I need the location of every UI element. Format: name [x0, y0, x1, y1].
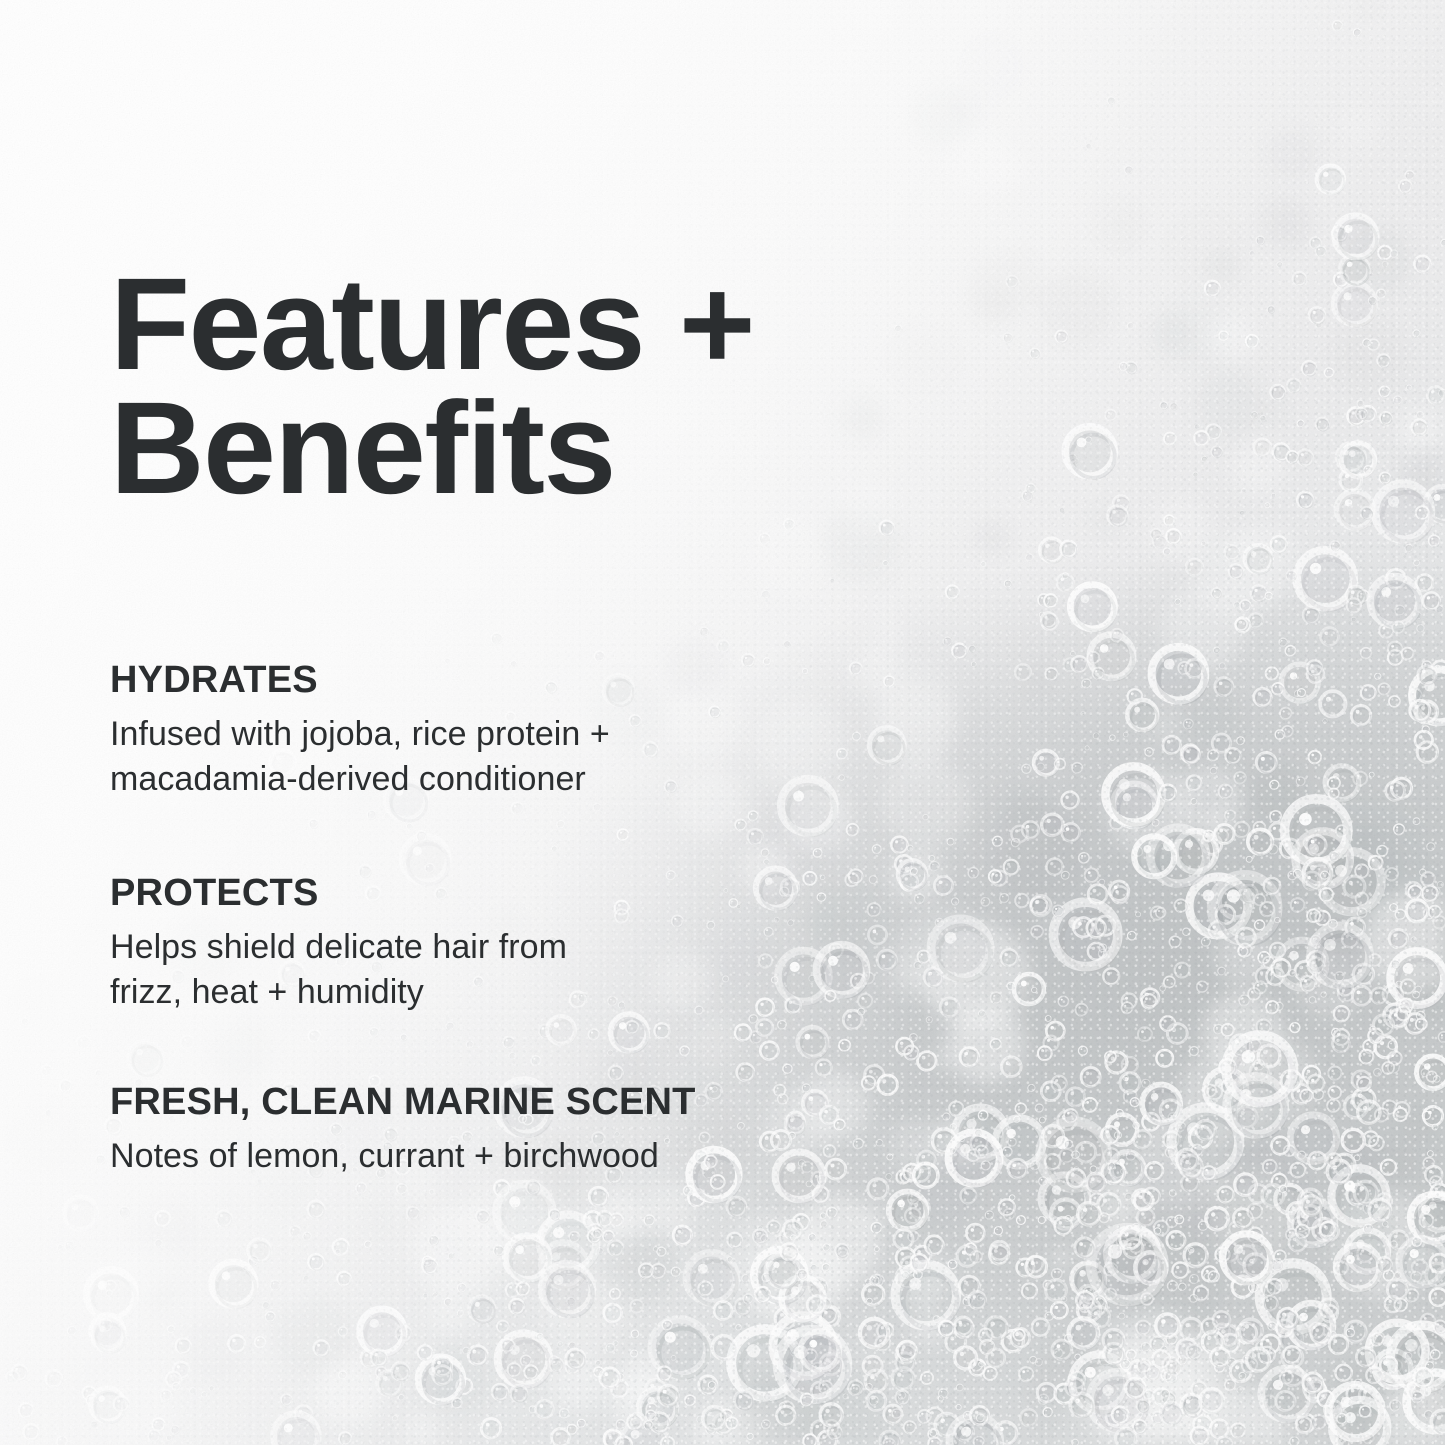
feature-block-protects: PROTECTS Helps shield delicate hair from… [110, 873, 930, 1015]
feature-title-protects: PROTECTS [110, 873, 930, 913]
feature-title-scent: FRESH, CLEAN MARINE SCENT [110, 1082, 930, 1122]
feature-body-scent: Notes of lemon, currant + birchwood [110, 1134, 930, 1179]
feature-block-hydrates: HYDRATES Infused with jojoba, rice prote… [110, 660, 930, 802]
feature-body-hydrates: Infused with jojoba, rice protein + maca… [110, 712, 930, 802]
feature-title-hydrates: HYDRATES [110, 660, 930, 700]
content-column: Features + Benefits HYDRATES Infused wit… [110, 0, 950, 1445]
feature-body-protects: Helps shield delicate hair from frizz, h… [110, 925, 930, 1015]
page-title: Features + Benefits [110, 262, 754, 510]
product-feature-panel: Features + Benefits HYDRATES Infused wit… [0, 0, 1445, 1445]
feature-block-scent: FRESH, CLEAN MARINE SCENT Notes of lemon… [110, 1082, 930, 1179]
